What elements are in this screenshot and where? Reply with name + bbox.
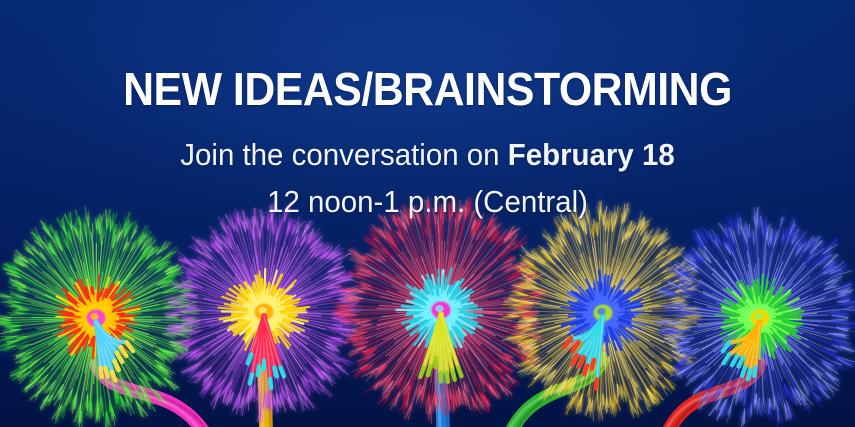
subtitle-prefix: Join the conversation on — [180, 137, 507, 172]
page-title: NEW IDEAS/BRAINSTORMING — [30, 63, 825, 115]
subtitle-line-1: Join the conversation on February 18 — [21, 137, 833, 173]
event-date: February 18 — [508, 137, 675, 172]
text-block: NEW IDEAS/BRAINSTORMING Join the convers… — [0, 0, 855, 427]
subtitle-line-2: 12 noon-1 p.m. (Central) — [21, 184, 833, 220]
promotional-banner: NEW IDEAS/BRAINSTORMING Join the convers… — [0, 0, 855, 427]
